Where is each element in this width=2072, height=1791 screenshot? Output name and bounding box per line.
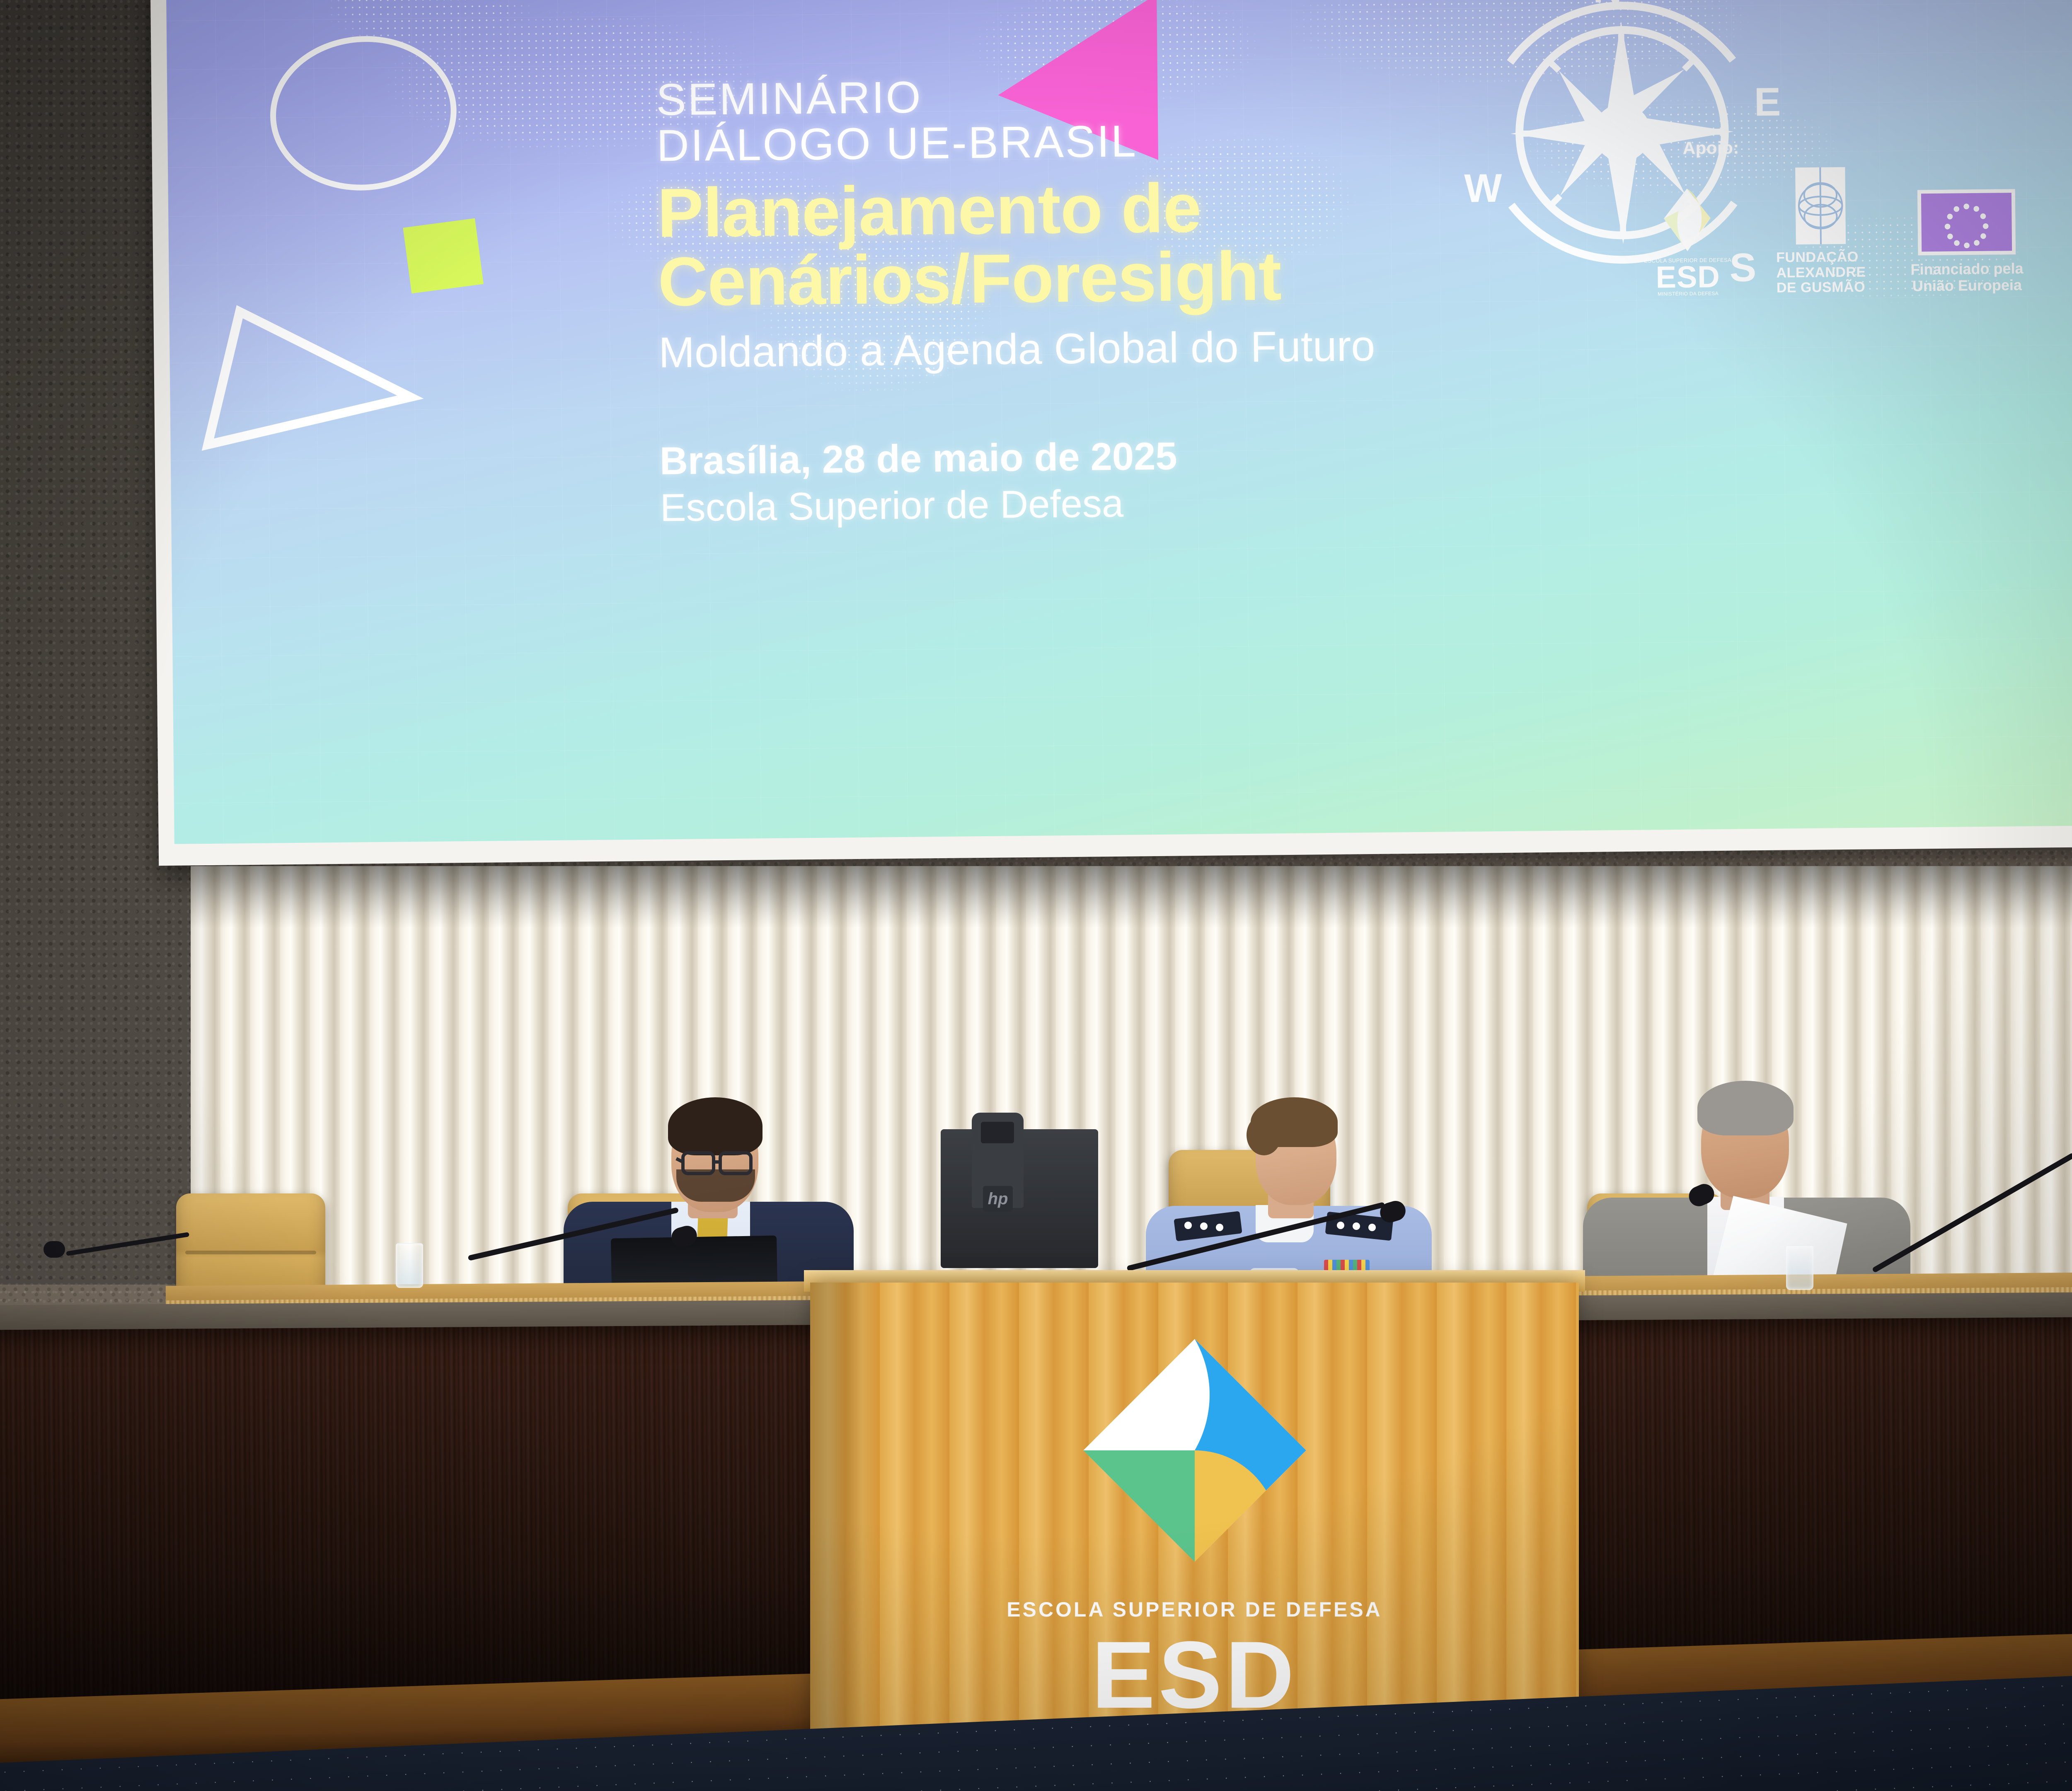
slide-kicker-line-2: DIÁLOGO UE-BRASIL bbox=[656, 116, 1373, 169]
slide-place-block: Brasília, 28 de maio de 2025 Escola Supe… bbox=[659, 431, 1377, 531]
esd-diamond-icon bbox=[1661, 185, 1714, 255]
slide-subtitle: Moldando a Agenda Global do Futuro bbox=[658, 324, 1375, 376]
eu-stars-icon-sponsor bbox=[1921, 193, 2012, 252]
speaker-right-hair bbox=[1697, 1081, 1794, 1135]
laptop-device bbox=[611, 1236, 777, 1288]
compass-label-w: W bbox=[1464, 166, 1503, 211]
sponsor-eu: Financiado pela União Europeia bbox=[1910, 189, 2024, 294]
curtain-shadow bbox=[191, 866, 2072, 928]
eu-sponsor-text: Financiado pela União Europeia bbox=[1910, 260, 2024, 294]
eu-line-1: Financiado pela bbox=[1910, 260, 2023, 278]
podium-caption-top: ESCOLA SUPERIOR DE DEFESA bbox=[810, 1597, 1579, 1622]
slide-date: Brasília, 28 de maio de 2025 bbox=[659, 431, 1376, 484]
slide-title-line-1: Planejamento de bbox=[657, 172, 1374, 248]
funag-line-2: ALEXANDRE bbox=[1776, 264, 1866, 281]
projection-screen: N E S W SECRETARIA NACIONAL DE PLANEJAME… bbox=[150, 0, 2072, 866]
triangle-outline-decoration bbox=[194, 260, 427, 453]
funag-line-1: FUNDAÇÃO bbox=[1776, 249, 1866, 266]
sponsor-esd: ESCOLA SUPERIOR DE DEFESA ESD MINISTÉRIO… bbox=[1644, 184, 1732, 297]
eu-line-2: União Europeia bbox=[1911, 277, 2024, 295]
esd-logo-icon bbox=[1079, 1334, 1311, 1566]
funag-sponsor-text: FUNDAÇÃO ALEXANDRE DE GUSMÃO bbox=[1776, 249, 1866, 296]
panelist-center-bun bbox=[1247, 1115, 1281, 1155]
slide-kicker: SEMINÁRIO DIÁLOGO UE-BRASIL bbox=[656, 70, 1373, 169]
eu-flag-icon-sponsor bbox=[1917, 189, 2016, 255]
auditorium-scene: N E S W SECRETARIA NACIONAL DE PLANEJAME… bbox=[0, 0, 2072, 1791]
slide-text-block: SEMINÁRIO DIÁLOGO UE-BRASIL Planejamento… bbox=[656, 70, 1377, 531]
funag-globe-icon bbox=[1793, 165, 1848, 247]
compass-label-e: E bbox=[1754, 80, 1781, 125]
slide-title-line-2: Cenários/Foresight bbox=[658, 241, 1375, 317]
water-glass-right bbox=[1786, 1245, 1813, 1290]
sponsor-funag: FUNDAÇÃO ALEXANDRE DE GUSMÃO bbox=[1775, 165, 1866, 296]
water-glass-left bbox=[396, 1243, 423, 1288]
lime-square-decoration bbox=[403, 218, 484, 294]
slide-venue: Escola Superior de Defesa bbox=[660, 478, 1377, 531]
esd-sponsor-bottom: MINISTÉRIO DA DEFESA bbox=[1658, 290, 1719, 297]
eyeglasses-icon bbox=[675, 1146, 761, 1179]
sponsors-block: Apoio: ESCOLA SUPERIOR DE DEFESA ESD MIN… bbox=[1643, 133, 2072, 297]
slide-kicker-line-1: SEMINÁRIO bbox=[656, 70, 1373, 123]
slide-canvas: N E S W SECRETARIA NACIONAL DE PLANEJAME… bbox=[165, 0, 2072, 844]
hp-logo-icon: hp bbox=[983, 1186, 1013, 1212]
slide-title: Planejamento de Cenários/Foresight bbox=[657, 172, 1375, 316]
sponsor-logo-row: ESCOLA SUPERIOR DE DEFESA ESD MINISTÉRIO… bbox=[1643, 162, 2072, 297]
esd-sponsor-acronym: ESD bbox=[1656, 263, 1720, 291]
funag-line-3: DE GUSMÃO bbox=[1777, 280, 1866, 296]
microphone-head-far-left bbox=[44, 1241, 65, 1258]
compass-label-n: N bbox=[1593, 0, 1622, 11]
